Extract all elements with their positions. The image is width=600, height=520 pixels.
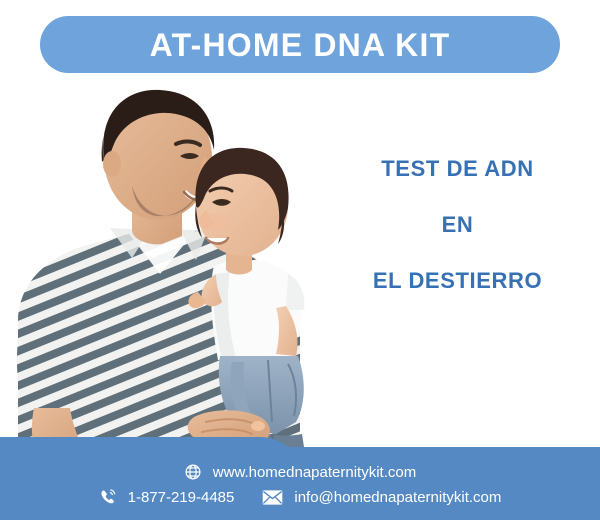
page-title: AT-HOME DNA KIT: [150, 29, 451, 61]
photo-illustration: [0, 78, 340, 460]
globe-icon: [184, 463, 202, 481]
footer-phone-label: 1-877-219-4485: [128, 490, 235, 505]
footer-row-phone-email: 1-877-219-4485 info@homednapaternitykit.…: [99, 488, 502, 506]
footer-contact-bar: www.homednapaternitykit.com 1-877-219-44…: [0, 437, 600, 520]
headline-line-2: EN: [330, 214, 585, 236]
footer-content: www.homednapaternitykit.com 1-877-219-44…: [0, 437, 600, 520]
envelope-icon: [262, 489, 283, 506]
headline-line-3: EL DESTIERRO: [330, 270, 585, 292]
phone-icon: [99, 488, 117, 506]
father-holding-toddler-photo: [0, 78, 340, 460]
footer-email[interactable]: info@homednapaternitykit.com: [262, 489, 501, 506]
footer-website[interactable]: www.homednapaternitykit.com: [184, 463, 416, 481]
headline-block: TEST DE ADN EN EL DESTIERRO: [330, 158, 585, 292]
footer-website-label: www.homednapaternitykit.com: [213, 465, 416, 480]
header-pill: AT-HOME DNA KIT: [40, 16, 560, 73]
footer-phone[interactable]: 1-877-219-4485: [99, 488, 235, 506]
footer-email-label: info@homednapaternitykit.com: [294, 490, 501, 505]
headline-line-1: TEST DE ADN: [330, 158, 585, 180]
dna-kit-banner: AT-HOME DNA KIT: [0, 0, 600, 520]
footer-row-website: www.homednapaternitykit.com: [184, 463, 416, 481]
